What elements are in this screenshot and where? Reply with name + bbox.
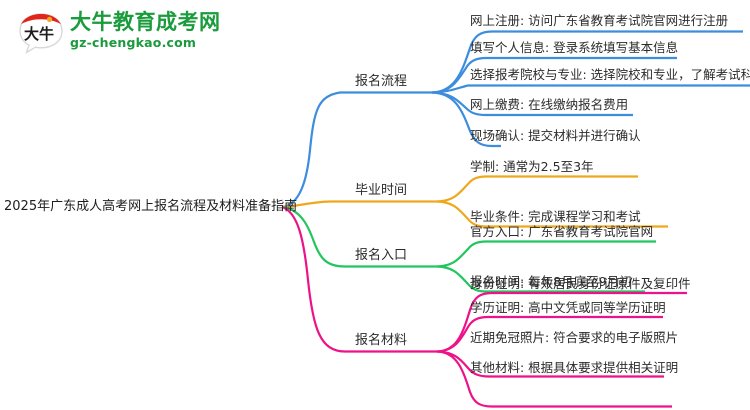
root-node-label[interactable]: 2025年广东成人高考网上报名流程及材料准备指南 [4,199,297,215]
branch-label-biyeshijian[interactable]: 毕业时间 [355,183,407,199]
leaf-label-wangshangjiaofei[interactable]: 网上缴费: 在线缴纳报名费用 [470,97,628,113]
leaf-label-xuelizhengming[interactable]: 学历证明: 高中文凭或同等学历证明 [470,300,666,316]
leaf-label-jinqimianguanzhaopian[interactable]: 近期免冠照片: 符合要求的电子版照片 [470,330,678,346]
leaf-label-xuezhi[interactable]: 学制: 通常为2.5至3年 [470,159,594,175]
leaf-label-wangshangzhuce[interactable]: 网上注册: 访问广东省教育考试院官网进行注册 [470,13,728,29]
leaf-label-qitacailiao[interactable]: 其他材料: 根据具体要求提供相关证明 [470,360,678,376]
branch-label-baomingliucheng[interactable]: 报名流程 [355,74,407,90]
branch-label-baomingcailiao[interactable]: 报名材料 [355,333,407,349]
branch-wire-baomingliucheng [282,32,750,208]
leaf-label-guanfangrukou[interactable]: 官方入口: 广东省教育考试院官网 [470,224,653,240]
leaf-label-biyetiaojian[interactable]: 毕业条件: 完成课程学习和考试 [470,209,641,225]
leaf-label-tianxiegerenxinxi[interactable]: 填写个人信息: 登录系统填写基本信息 [470,40,678,56]
leaf-label-xianchangqueren[interactable]: 现场确认: 提交材料并进行确认 [470,128,641,144]
branch-label-baomingrukou[interactable]: 报名入口 [355,248,407,264]
leaf-label-shenfenzhengming[interactable]: 身份证明: 有效居民身份证原件及复印件 [470,276,691,292]
leaf-label-xuanzebaokaoyuanxiao[interactable]: 选择报考院校与专业: 选择院校和专业，了解考试科目 [470,67,750,83]
mindmap-canvas: 大牛 大牛教育成考网 gz-chengkao.com [0,0,750,410]
